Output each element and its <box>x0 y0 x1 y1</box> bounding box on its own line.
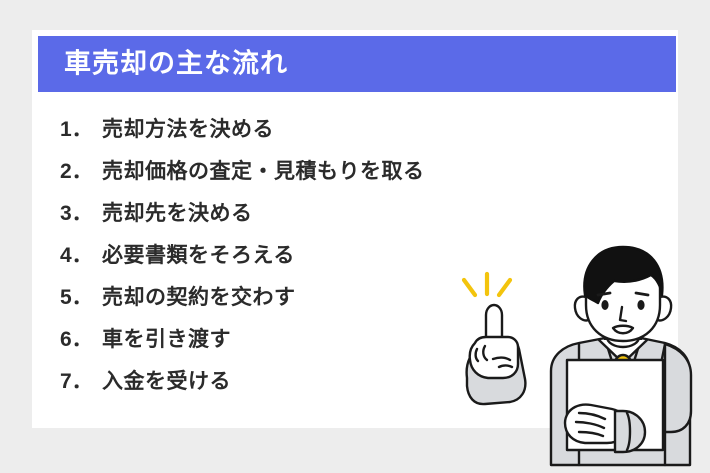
list-item-number: 5． <box>60 281 102 311</box>
list-item-label: 売却価格の査定・見積もりを取る <box>102 155 425 185</box>
list-item-number: 2． <box>60 155 102 185</box>
slide-canvas: 車売却の主な流れ 1． 売却方法を決める 2． 売却価格の査定・見積もりを取る … <box>0 0 710 473</box>
list-item-number: 6． <box>60 323 102 353</box>
pointing-hand <box>470 305 518 378</box>
sparkle-icon <box>464 274 510 295</box>
list-item-label: 入金を受ける <box>102 365 231 395</box>
list-item-label: 売却先を決める <box>102 197 253 227</box>
list-item-label: 売却の契約を交わす <box>102 281 296 311</box>
list-item-number: 3． <box>60 197 102 227</box>
list-item-number: 4． <box>60 239 102 269</box>
list-item-label: 必要書類をそろえる <box>102 239 295 269</box>
list-item-label: 売却方法を決める <box>102 113 274 143</box>
list-item-label: 車を引き渡す <box>102 323 231 353</box>
page-title: 車売却の主な流れ <box>64 51 288 78</box>
list-item: 1． 売却方法を決める <box>60 113 540 155</box>
list-item: 2． 売却価格の査定・見積もりを取る <box>60 155 540 197</box>
businessman-illustration <box>455 243 710 473</box>
list-item-number: 1． <box>60 113 102 143</box>
title-banner: 車売却の主な流れ <box>38 36 676 92</box>
head <box>575 247 671 341</box>
list-item-number: 7． <box>60 365 102 395</box>
list-item: 3． 売却先を決める <box>60 197 540 239</box>
